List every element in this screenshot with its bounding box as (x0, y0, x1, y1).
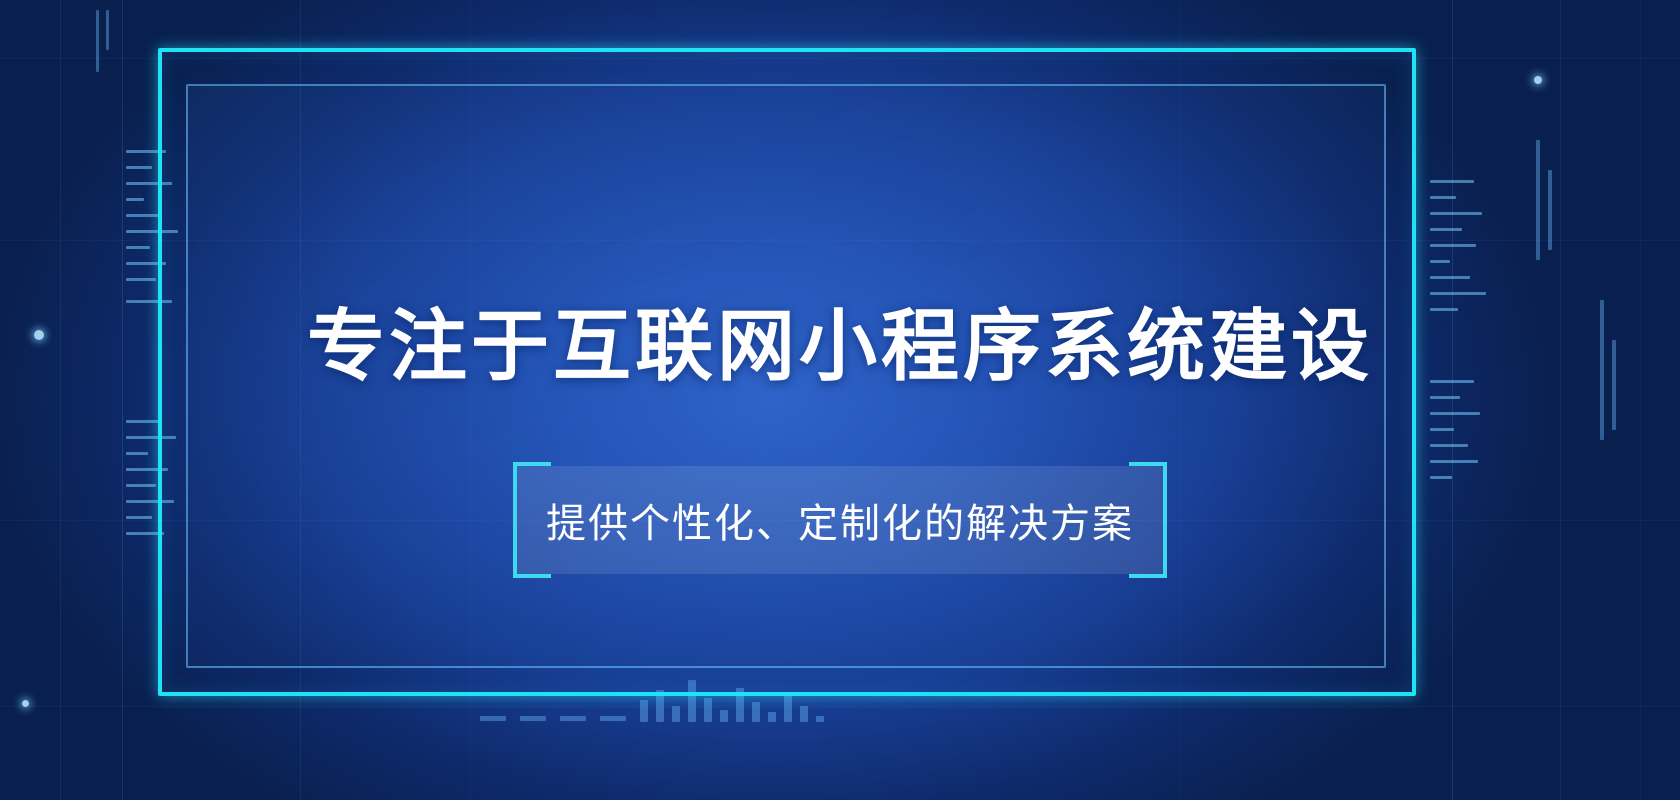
subtitle-edge-right (1163, 490, 1167, 550)
hero-banner: 专注于互联网小程序系统建设 提供个性化、定制化的解决方案 (0, 0, 1680, 800)
page-subtitle: 提供个性化、定制化的解决方案 (517, 466, 1163, 574)
page-title: 专注于互联网小程序系统建设 (0, 284, 1680, 396)
subtitle-plate: 提供个性化、定制化的解决方案 (517, 466, 1163, 574)
